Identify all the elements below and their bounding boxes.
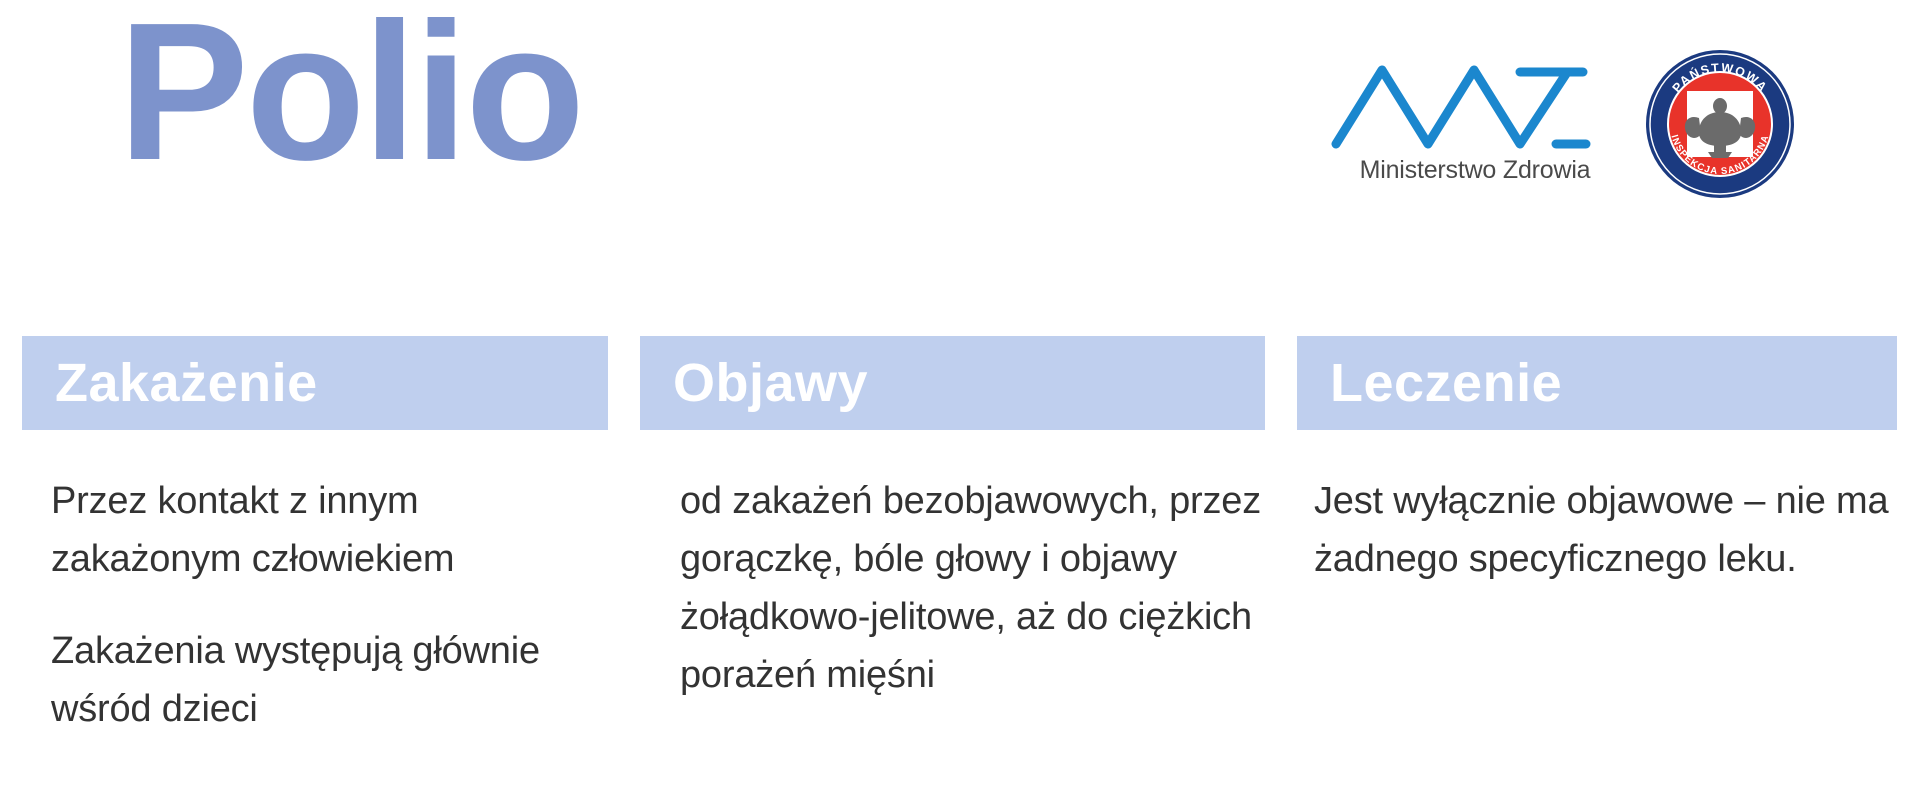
column-zakazenie: Zakażenie Przez kontakt z innym zakażony…	[22, 336, 608, 738]
mz-monogram-icon	[1330, 60, 1620, 150]
paragraph: Zakażenia występują głównie wśród dzieci	[22, 622, 608, 738]
paragraph: Przez kontakt z innym zakażonym człowiek…	[22, 472, 608, 588]
paragraph: od zakażeń bezobjawowych, przez gorączkę…	[640, 472, 1265, 704]
section-header-zakazenie: Zakażenie	[22, 336, 608, 430]
section-heading-label: Objawy	[640, 356, 868, 410]
sanitary-inspection-emblem-icon: PAŃSTWOWA INSPEKCJA SANITARNA	[1644, 48, 1796, 200]
section-body-zakazenie: Przez kontakt z innym zakażonym człowiek…	[22, 430, 608, 738]
column-leczenie: Leczenie Jest wyłącznie objawowe – nie m…	[1297, 336, 1897, 588]
info-columns: Zakażenie Przez kontakt z innym zakażony…	[0, 336, 1920, 810]
ministry-of-health-logo: Ministerstwo Zdrowia	[1330, 60, 1620, 190]
header: Polio Ministerstwo Zdrowia PAŃS	[0, 0, 1920, 250]
section-heading-label: Leczenie	[1297, 356, 1562, 410]
ministry-logo-caption: Ministerstwo Zdrowia	[1330, 156, 1620, 185]
section-header-objawy: Objawy	[640, 336, 1265, 430]
section-header-leczenie: Leczenie	[1297, 336, 1897, 430]
section-body-leczenie: Jest wyłącznie objawowe – nie ma żadnego…	[1297, 430, 1897, 588]
paragraph: Jest wyłącznie objawowe – nie ma żadnego…	[1297, 472, 1897, 588]
page-title: Polio	[118, 0, 582, 190]
section-body-objawy: od zakażeń bezobjawowych, przez gorączkę…	[640, 430, 1265, 704]
section-heading-label: Zakażenie	[22, 356, 318, 410]
column-objawy: Objawy od zakażeń bezobjawowych, przez g…	[640, 336, 1265, 704]
